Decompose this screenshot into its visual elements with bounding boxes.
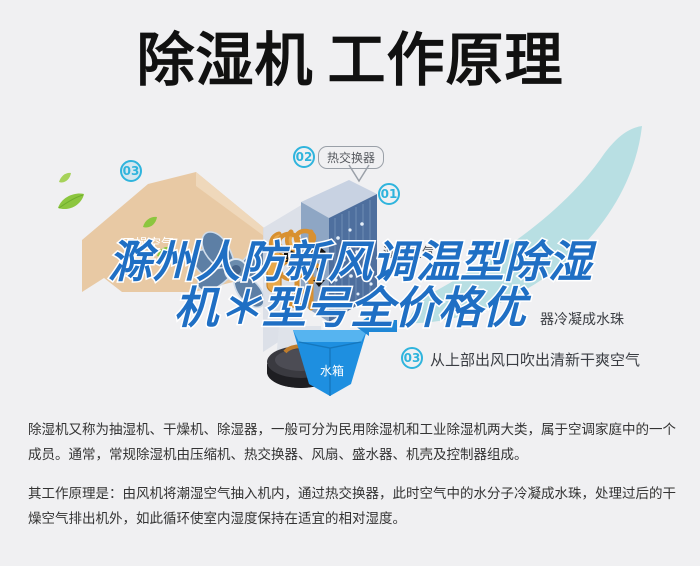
infographic-page: 除湿机工作原理 bbox=[0, 0, 700, 566]
promo-line-1: 滁州人防新风调温型除湿 bbox=[0, 240, 700, 286]
note-step-03: 从上部出风口吹出清新干爽空气 bbox=[430, 349, 640, 370]
paragraph-2: 其工作原理是：由风机将潮湿空气抽入机内，通过热交换器，此时空气中的水分子冷凝成水… bbox=[28, 482, 676, 532]
badge-02-heat-exchanger: 02 bbox=[293, 146, 315, 168]
page-title: 除湿机工作原理 bbox=[0, 26, 700, 94]
callout-tail-icon bbox=[348, 164, 370, 184]
leaf-icon bbox=[142, 216, 158, 229]
label-water-tank: 水箱 bbox=[320, 362, 344, 379]
badge-03-dry-air: 03 bbox=[120, 160, 142, 182]
promo-line-2: 机＊型号全价格优 bbox=[0, 286, 700, 332]
promo-watermark: 滁州人防新风调温型除湿 机＊型号全价格优 bbox=[0, 240, 700, 332]
title-part-2: 工作原理 bbox=[328, 26, 564, 94]
badge-01-humid-air: 01 bbox=[378, 183, 400, 205]
paragraph-1: 除湿机又称为抽湿机、干燥机、除湿器，一般可分为民用除湿机和工业除湿机两大类，属于… bbox=[28, 418, 676, 468]
badge-03-outlet: 03 bbox=[401, 347, 423, 369]
leaf-icon bbox=[56, 192, 86, 212]
description-block: 除湿机又称为抽湿机、干燥机、除湿器，一般可分为民用除湿机和工业除湿机两大类，属于… bbox=[28, 418, 676, 540]
leaf-icon bbox=[58, 172, 72, 184]
title-part-1: 除湿机 bbox=[136, 26, 313, 94]
